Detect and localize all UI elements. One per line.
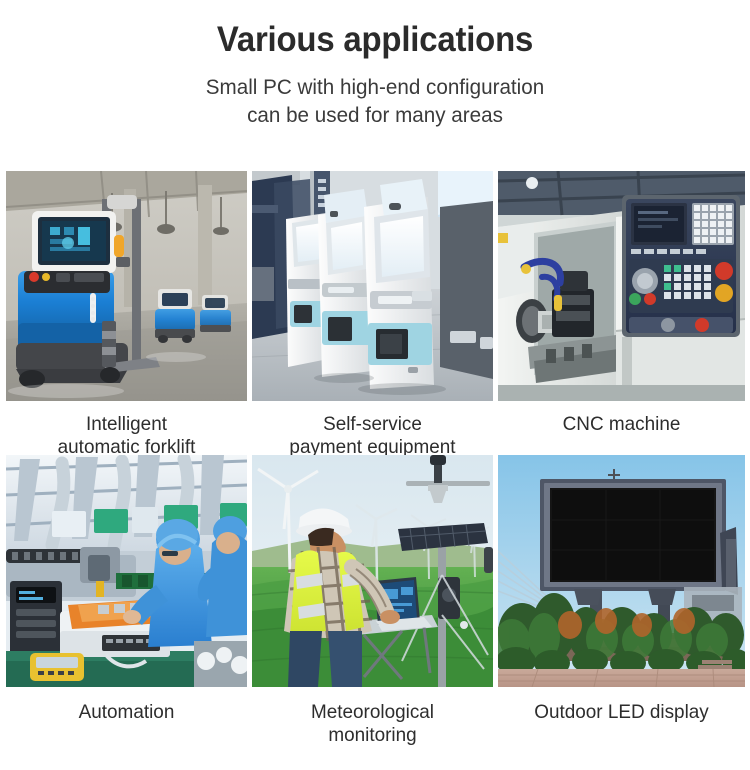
caption-cnc-machine: CNC machine xyxy=(502,401,742,455)
caption-meteorological: Meteorological monitoring xyxy=(256,687,490,741)
grid-cell-led-display: Outdoor LED display xyxy=(498,455,745,741)
grid-cell-forklift: Intelligent automatic forklift xyxy=(6,171,247,455)
forklift-photo[interactable] xyxy=(6,171,247,401)
led-display-illustration xyxy=(498,455,745,687)
grid-cell-cnc-machine: CNC machine xyxy=(498,171,745,455)
kiosk-illustration xyxy=(252,171,493,401)
grid-cell-meteorological: Meteorological monitoring xyxy=(252,455,493,741)
grid-cell-payment-kiosk: Self-service payment equipment xyxy=(252,171,493,455)
application-grid: Intelligent automatic forklift xyxy=(6,171,744,741)
subtitle-line-2: can be used for many areas xyxy=(15,101,735,130)
caption-payment-kiosk: Self-service payment equipment xyxy=(256,401,490,455)
caption-line-2: monitoring xyxy=(256,724,490,747)
caption-line-1: Self-service xyxy=(256,413,490,436)
caption-line-1: CNC machine xyxy=(502,413,742,436)
caption-line-1: Outdoor LED display xyxy=(502,701,742,724)
caption-automation: Automation xyxy=(10,687,244,741)
forklift-illustration xyxy=(6,171,247,401)
caption-line-1: Automation xyxy=(10,701,244,724)
meteorological-illustration xyxy=(252,455,493,687)
cnc-machine-photo[interactable] xyxy=(498,171,745,401)
caption-forklift: Intelligent automatic forklift xyxy=(10,401,244,455)
caption-led-display: Outdoor LED display xyxy=(502,687,742,741)
subtitle-line-1: Small PC with high-end configuration xyxy=(15,73,735,102)
application-showcase-page: Various applications Small PC with high-… xyxy=(0,0,750,770)
automation-illustration xyxy=(6,455,247,687)
grid-cell-automation: Automation xyxy=(6,455,247,741)
page-subtitle: Small PC with high-end configuration can… xyxy=(15,73,735,130)
automation-photo[interactable] xyxy=(6,455,247,687)
caption-line-1: Meteorological xyxy=(256,701,490,724)
page-title: Various applications xyxy=(23,22,728,59)
cnc-illustration xyxy=(498,171,745,401)
led-display-photo[interactable] xyxy=(498,455,745,687)
page-header: Various applications Small PC with high-… xyxy=(0,0,750,130)
caption-line-1: Intelligent xyxy=(10,413,244,436)
payment-kiosk-photo[interactable] xyxy=(252,171,493,401)
meteorological-photo[interactable] xyxy=(252,455,493,687)
